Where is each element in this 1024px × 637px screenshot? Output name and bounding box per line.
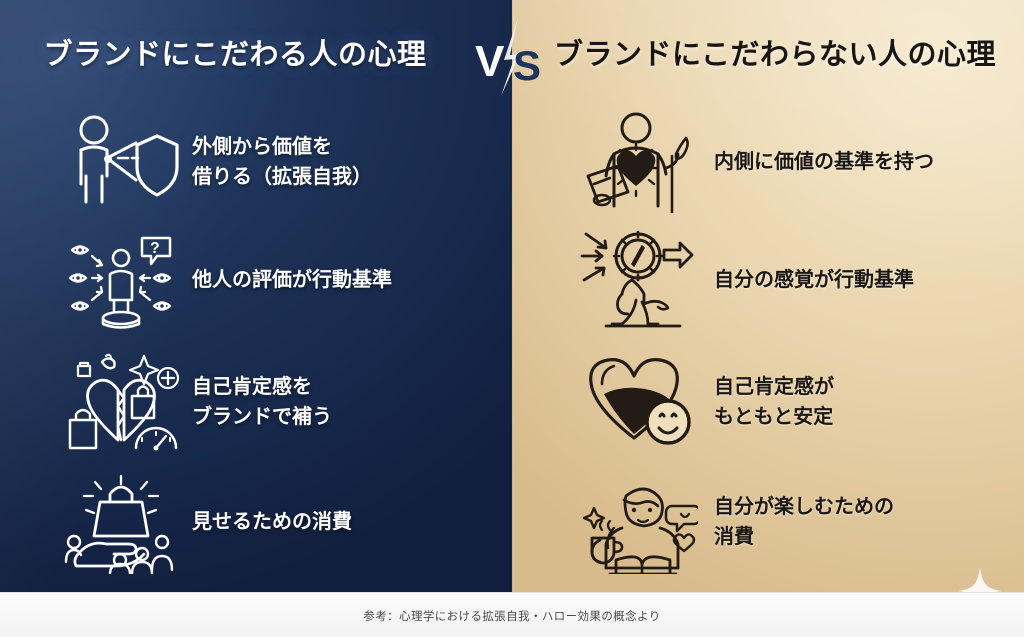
list-item-label: 内側に価値の基準を持つ (714, 147, 934, 177)
walking-person-compass-head-icon (580, 228, 698, 332)
list-item-label: 自己肯定感が もともと安定 (714, 372, 834, 432)
right-items-list: 内側に価値の基準を持つ (0, 0, 1024, 592)
person-with-glowing-heart-icon (580, 110, 698, 214)
infographic-stage: ブランドにこだわる人の心理 ブランドにこだわらない人の心理 V S (0, 0, 1024, 637)
list-item: 自己肯定感が もともと安定 (580, 350, 1020, 454)
list-item-label: 自分の感覚が行動基準 (714, 265, 914, 295)
list-item-label: 自分が楽しむための 消費 (714, 492, 894, 552)
filled-heart-with-smiley-icon (580, 350, 698, 454)
footer-note: 参考：心理学における拡張自我・ハロー効果の概念より (363, 608, 660, 624)
list-item: 自分の感覚が行動基準 (580, 228, 1020, 332)
footer-bar: 参考：心理学における拡張自我・ハロー効果の概念より (0, 592, 1024, 637)
list-item: 自分が楽しむための 消費 (580, 470, 1020, 574)
person-reading-with-coffee-icon (580, 470, 698, 574)
list-item: 内側に価値の基準を持つ (580, 110, 1020, 214)
